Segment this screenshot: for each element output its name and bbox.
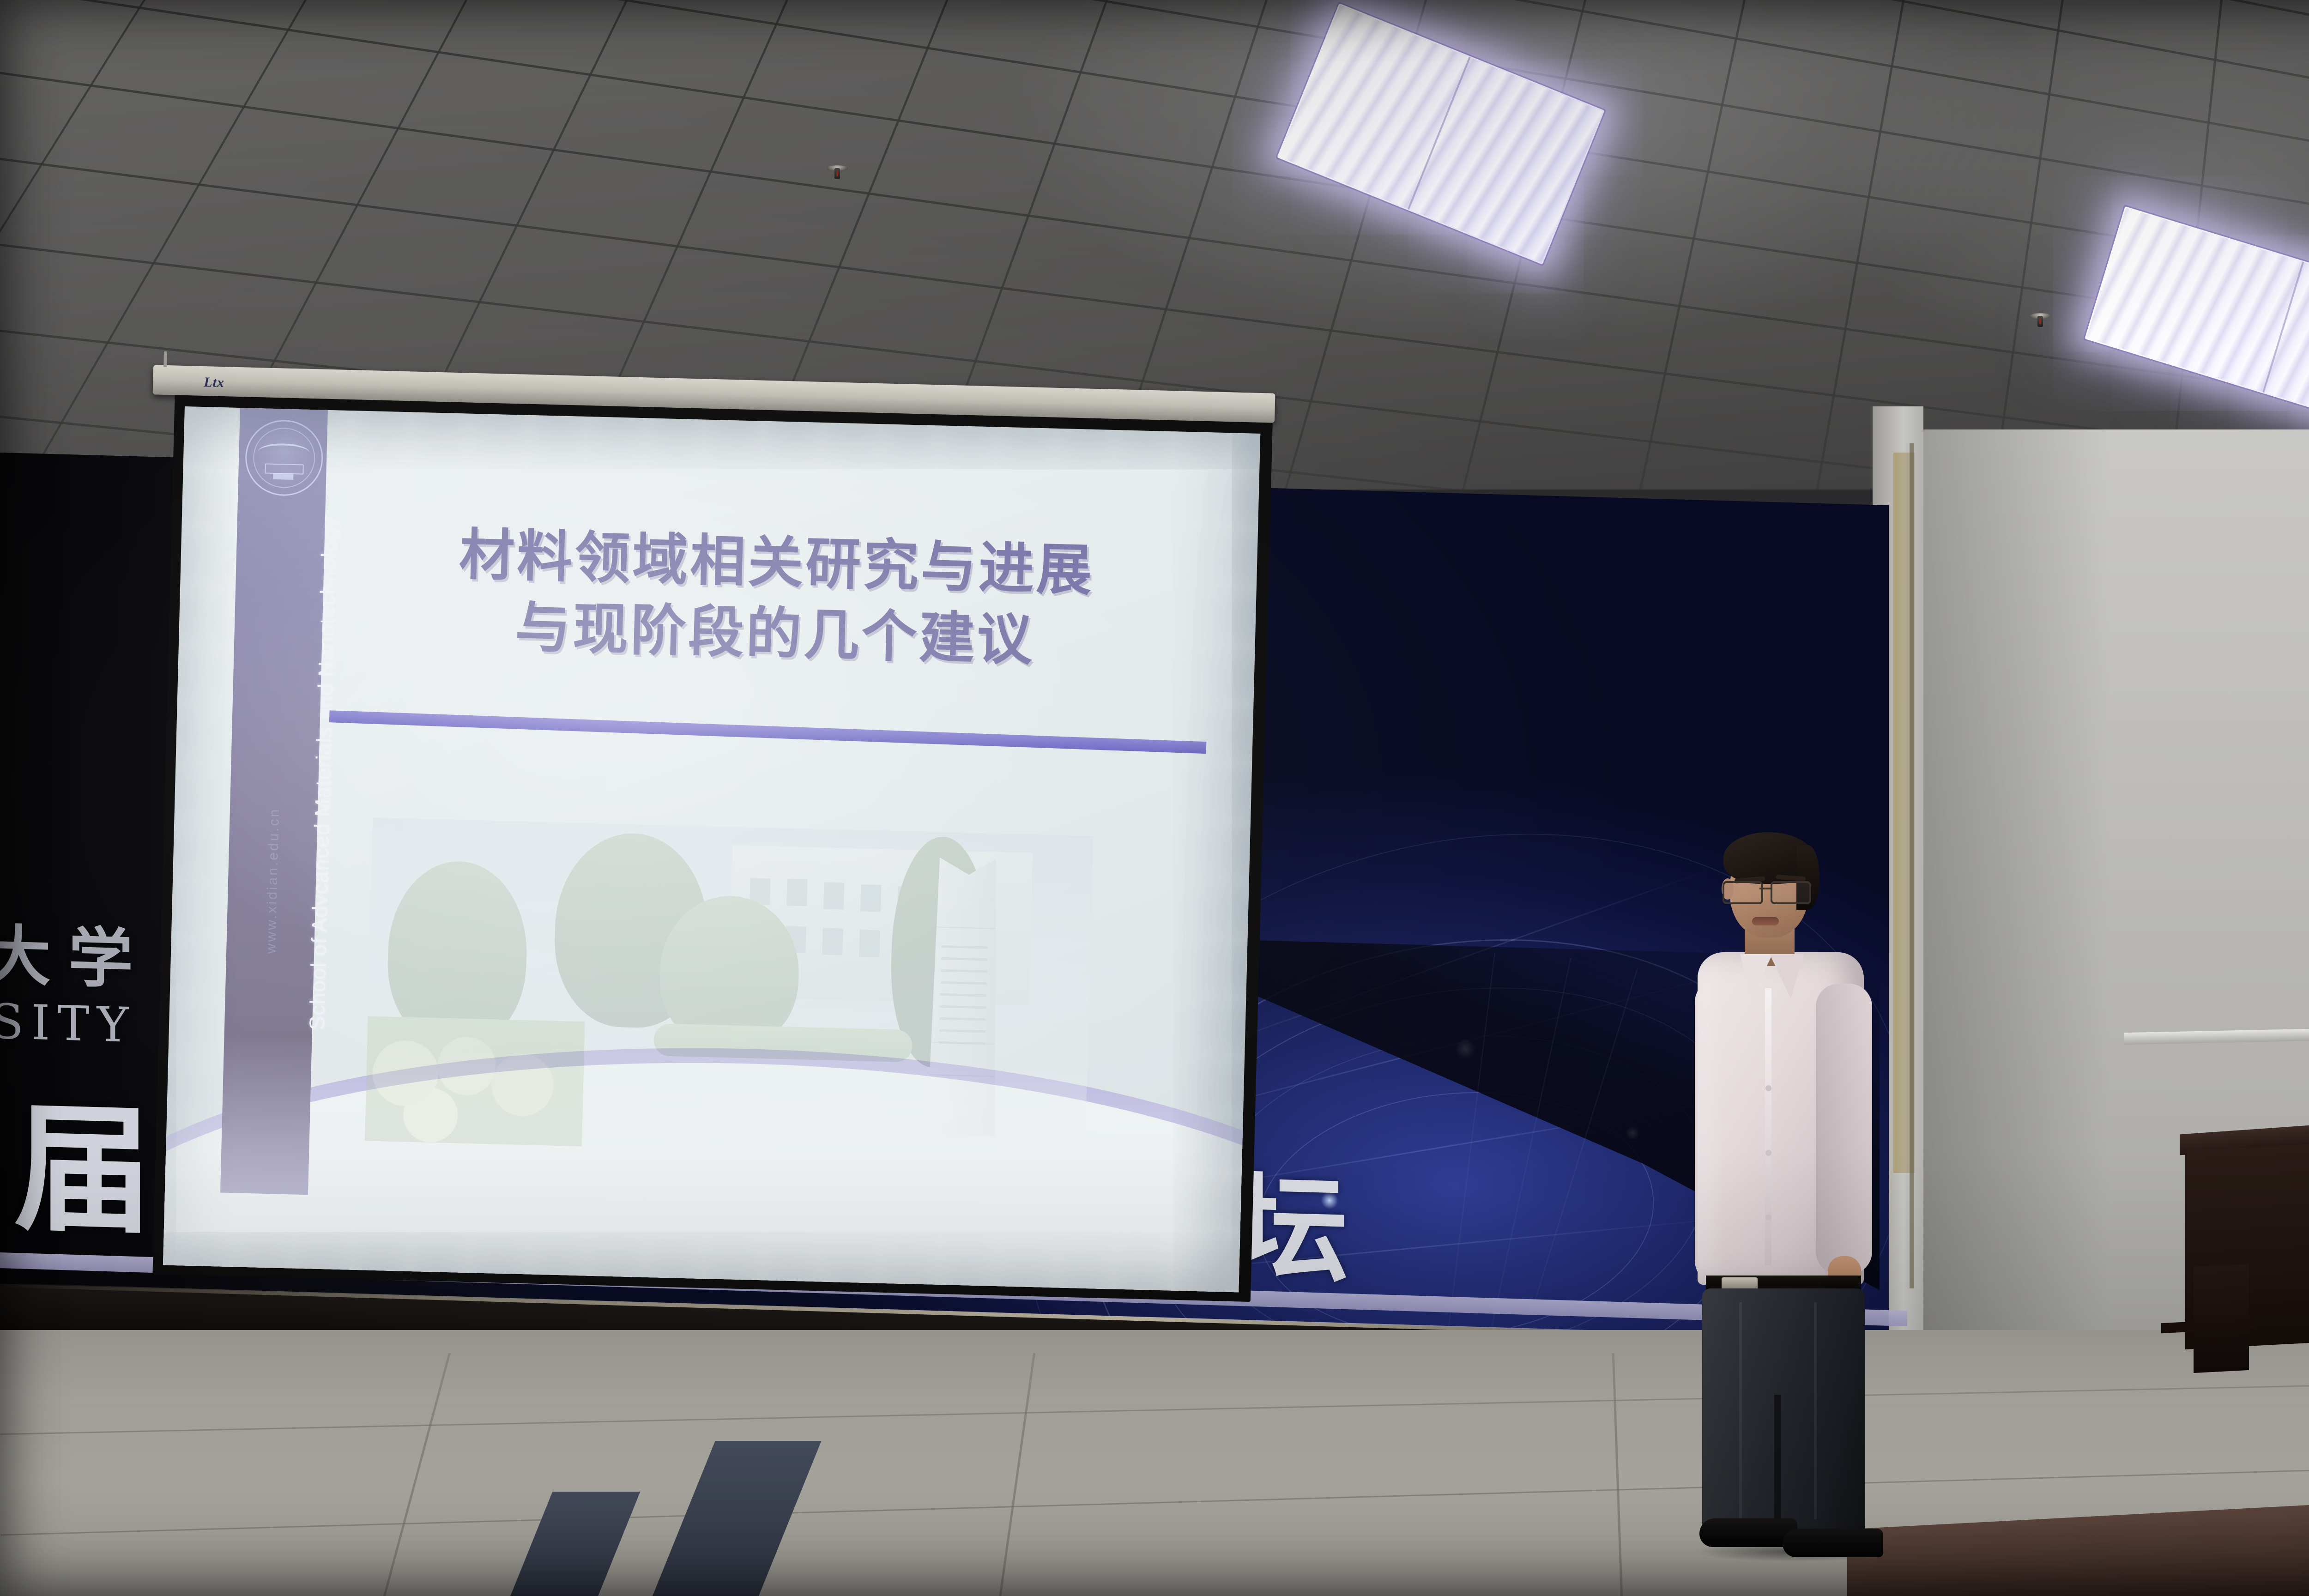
screen-brand-label: Ltx [204, 375, 225, 391]
wall-seam [1910, 443, 1914, 1288]
presenter-trousers [1702, 1288, 1865, 1538]
projection-screen: School of Advcanced Materials and Nanote… [163, 406, 1260, 1292]
university-crest-icon [244, 419, 324, 496]
presenter [1644, 827, 1903, 1566]
wooden-desk[interactable] [2180, 1127, 2309, 1372]
banner-university-latin: SITY [0, 997, 136, 1049]
presenter-glasses [1723, 881, 1810, 901]
fire-sprinkler-icon [827, 163, 848, 184]
slide-title: 材料领域相关研究与进展 与现阶段的几个建议 [331, 516, 1221, 681]
banner-jie-char: 届 [14, 1100, 152, 1242]
slide-title-rule [329, 710, 1207, 754]
slide-campus-photo [365, 818, 1093, 1159]
screen-mount-hook [163, 351, 167, 367]
presentation-room-photo: 大学 SITY 届 坛 信 敖 Ltx [0, 0, 2309, 1596]
presenter-right-arm [1816, 984, 1872, 1275]
fire-sprinkler-icon [2030, 310, 2051, 332]
projection-screen-assembly: Ltx [163, 406, 1260, 1292]
presenter-shoe [1783, 1529, 1883, 1557]
banner-university-chars: 大学 [0, 923, 151, 992]
